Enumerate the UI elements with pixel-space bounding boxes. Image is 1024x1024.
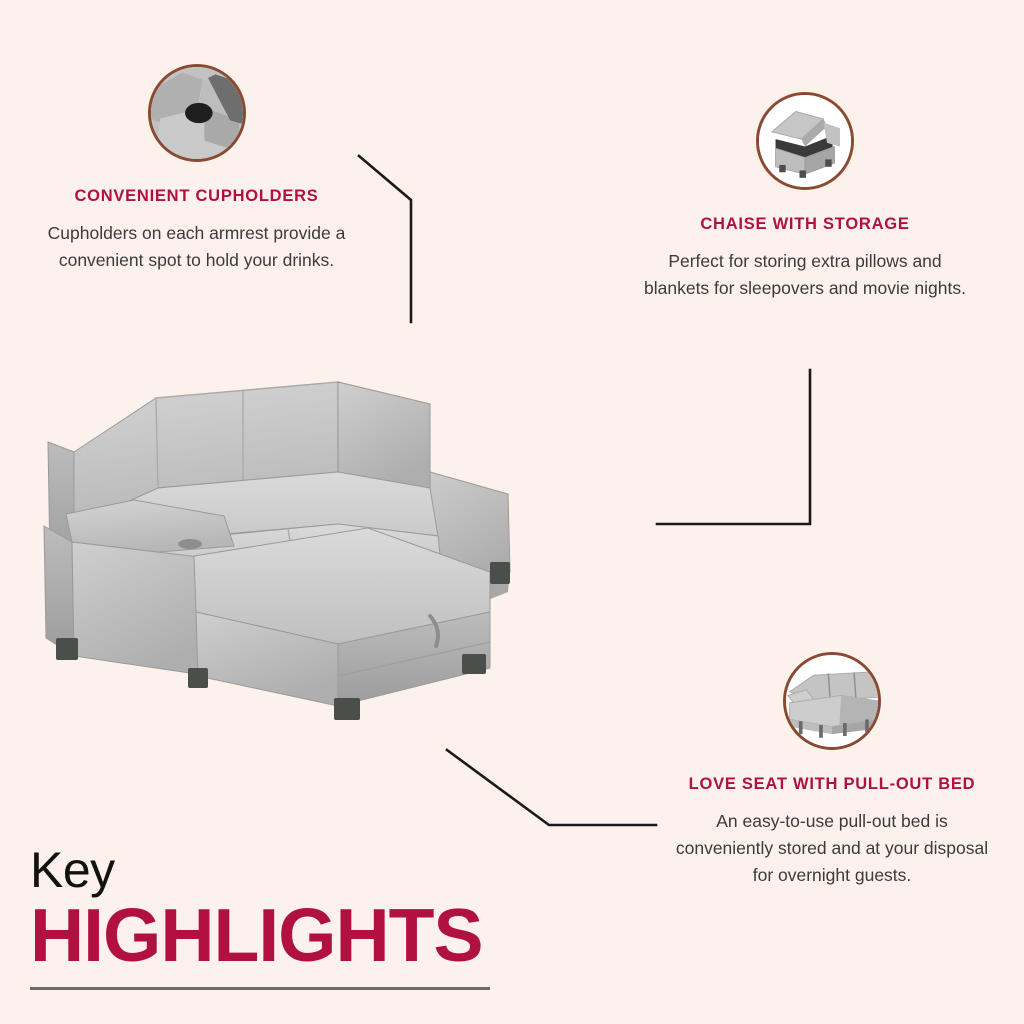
chaise-storage-open-icon [756, 92, 854, 190]
connector-chaise [657, 370, 810, 524]
title-underline-rule [30, 987, 490, 990]
cupholder-hole [178, 539, 202, 549]
armrest-cupholder-icon [148, 64, 246, 162]
feature-chaise-storage: CHAISE WITH STORAGE Perfect for storing … [640, 92, 970, 302]
feature-title: CHAISE WITH STORAGE [640, 214, 970, 236]
connector-pullout [447, 750, 656, 825]
product-image-sectional-sofa [38, 376, 558, 748]
feature-body: Perfect for storing extra pillows and bl… [640, 248, 970, 302]
feature-body: An easy-to-use pull-out bed is convenien… [672, 808, 992, 889]
title-block: Key HIGHLIGHTS [30, 846, 500, 990]
title-line-highlights: HIGHLIGHTS [30, 899, 500, 971]
feature-body: Cupholders on each armrest provide a con… [44, 220, 349, 274]
feature-title: CONVENIENT CUPHOLDERS [44, 186, 349, 208]
feature-pullout-bed: LOVE SEAT WITH PULL-OUT BED An easy-to-u… [672, 652, 992, 889]
feature-cupholders: CONVENIENT CUPHOLDERS Cupholders on each… [44, 64, 349, 274]
sofa-leg [462, 654, 486, 674]
infographic-canvas: CONVENIENT CUPHOLDERS Cupholders on each… [0, 0, 1024, 1024]
cupholder-opening [185, 103, 213, 123]
sofa-leg [188, 668, 208, 688]
pull-out-bed-icon [783, 652, 881, 750]
connector-cupholders [359, 156, 411, 322]
sofa-leg [490, 562, 510, 584]
sofa-leg [56, 638, 78, 660]
title-line-key: Key [30, 846, 500, 895]
feature-title: LOVE SEAT WITH PULL-OUT BED [672, 774, 992, 796]
sofa-leg [334, 698, 360, 720]
